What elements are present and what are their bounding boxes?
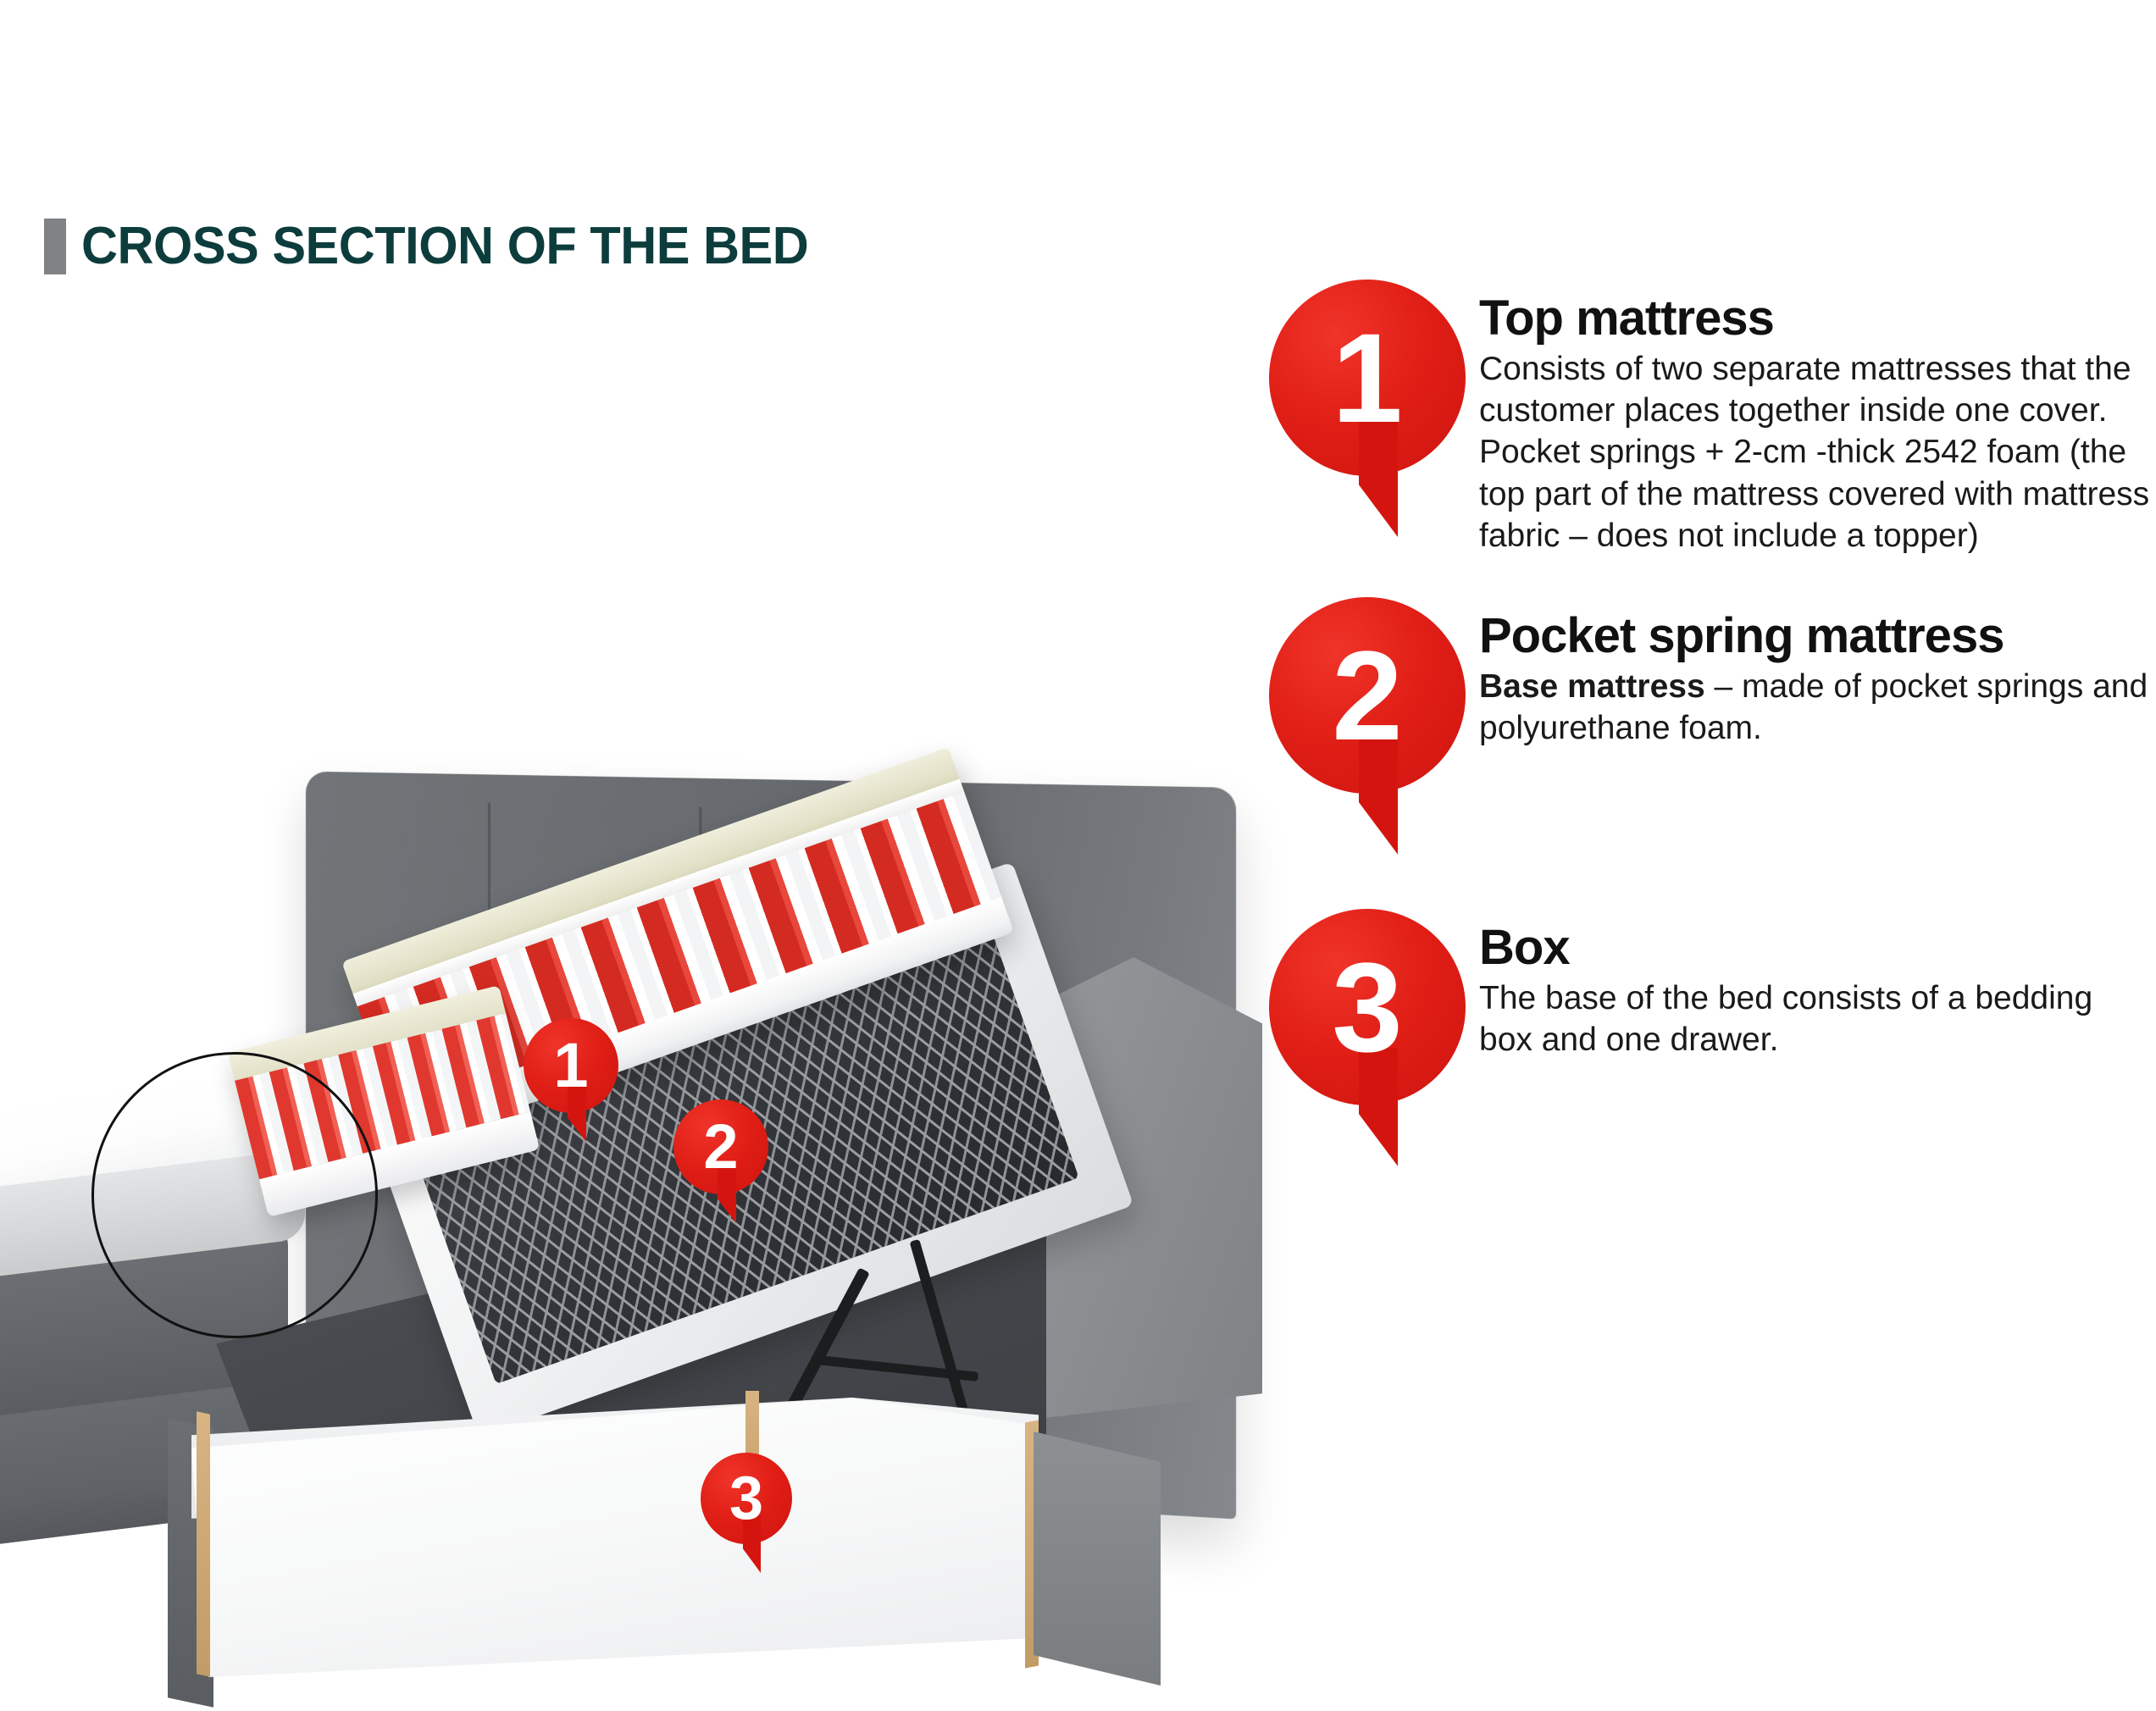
pin-number: 1 [524, 1018, 618, 1113]
legend-list: 1 Top mattress Consists of two separate … [1269, 280, 2150, 1171]
legend-title: Box [1479, 922, 2150, 972]
legend-item-box[interactable]: 3 Box The base of the bed consists of a … [1269, 909, 2150, 1171]
legend-title: Top mattress [1479, 293, 2150, 343]
legend-body-text: Consists of two separate mattresses that… [1479, 351, 2149, 554]
page-title: CROSS SECTION OF THE BED [81, 220, 808, 273]
legend-pin-number: 1 [1269, 280, 1466, 476]
legend-body-text: The base of the bed consists of a beddin… [1479, 980, 2092, 1058]
legend-pin-3: 3 [1269, 909, 1466, 1171]
box-wood-edge [197, 1411, 210, 1676]
box-interior-floor [191, 1398, 1039, 1677]
page-header: CROSS SECTION OF THE BED [44, 219, 839, 274]
storage-box [152, 1372, 1110, 1711]
legend-body: Consists of two separate mattresses that… [1479, 348, 2150, 556]
legend-item-top-mattress[interactable]: 1 Top mattress Consists of two separate … [1269, 280, 2150, 556]
bed-cutaway-illustration: 1 2 3 [0, 364, 1271, 1364]
pin-number: 2 [673, 1099, 768, 1194]
legend-body-lead: Base mattress [1479, 668, 1705, 705]
title-accent-bar [44, 219, 66, 274]
legend-pin-1: 1 [1269, 280, 1466, 542]
legend-body: The base of the bed consists of a beddin… [1479, 977, 2150, 1060]
pin-number: 3 [701, 1453, 792, 1544]
legend-pin-2: 2 [1269, 597, 1466, 860]
legend-title: Pocket spring mattress [1479, 611, 2150, 661]
marker-pin-1[interactable]: 1 [524, 1018, 618, 1145]
marker-pin-2[interactable]: 2 [673, 1099, 768, 1226]
box-outer-right-panel [1034, 1431, 1161, 1686]
legend-pin-number: 3 [1269, 909, 1466, 1105]
marker-pin-3[interactable]: 3 [701, 1453, 792, 1580]
legend-item-pocket-spring-mattress[interactable]: 2 Pocket spring mattress Base mattress –… [1269, 597, 2150, 860]
legend-body: Base mattress – made of pocket springs a… [1479, 666, 2150, 749]
legend-pin-number: 2 [1269, 597, 1466, 794]
mattress-corner-detail-circle [91, 1052, 378, 1338]
